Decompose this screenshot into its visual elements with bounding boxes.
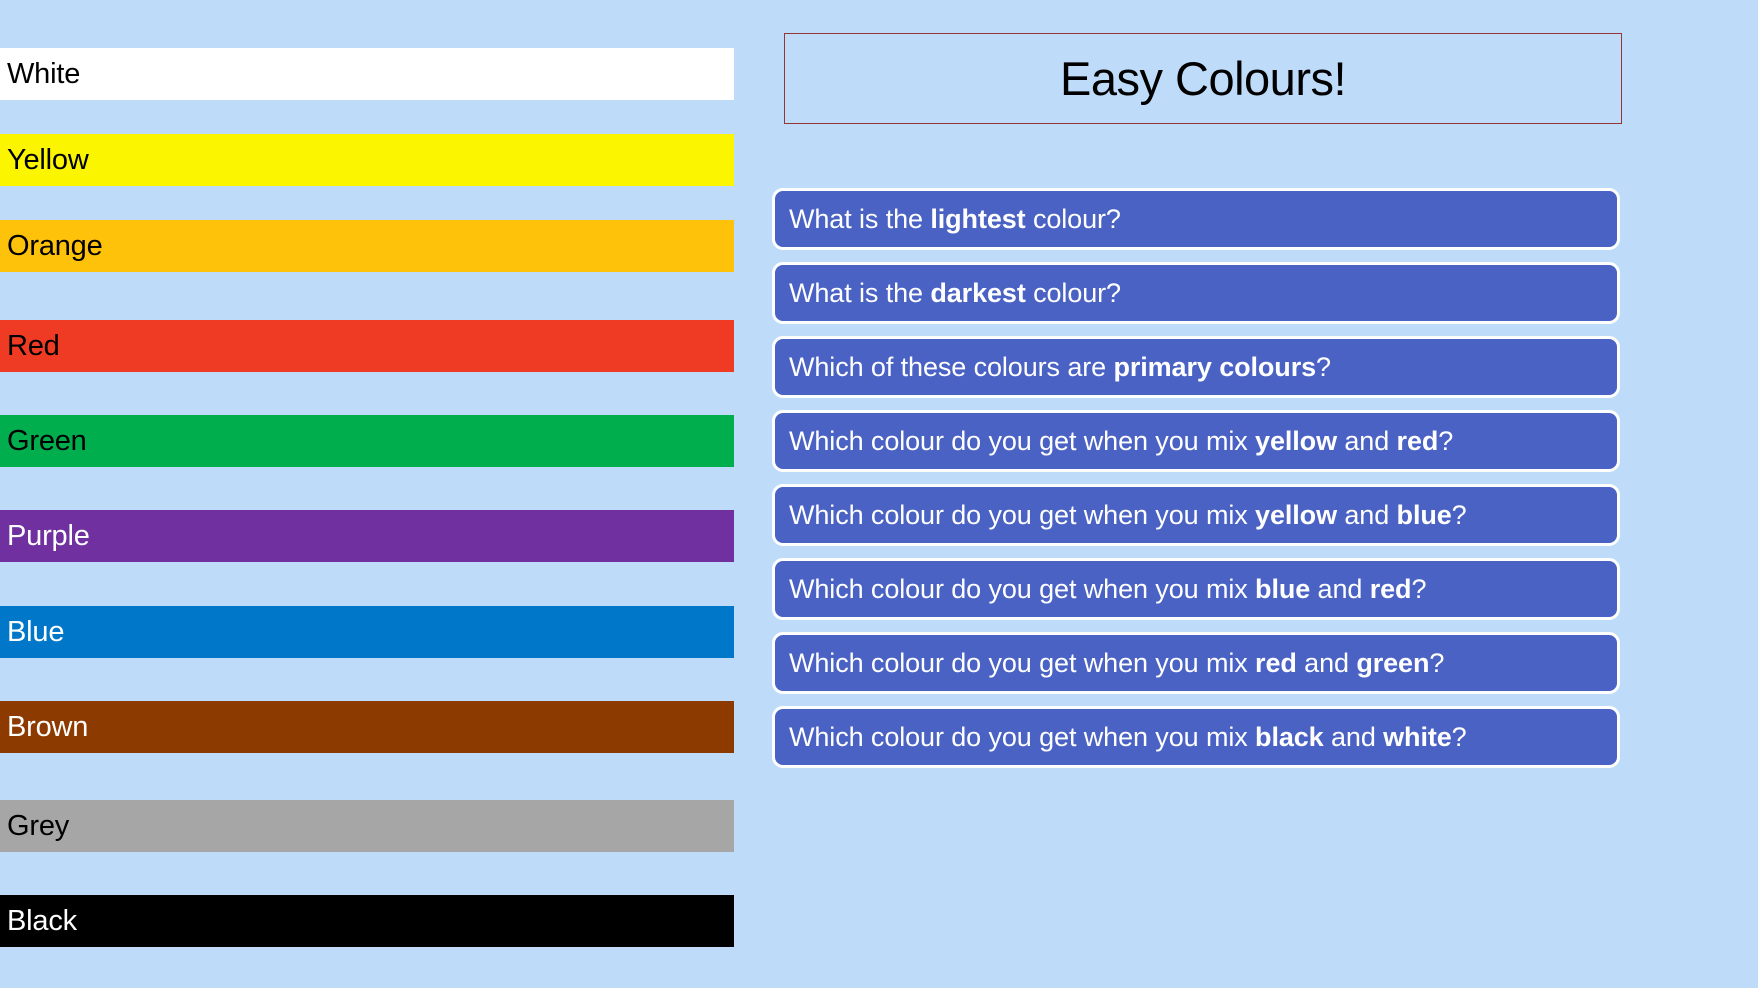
colour-bar-white: White	[0, 48, 734, 100]
colour-bar-blue: Blue	[0, 606, 734, 658]
question-text: What is the darkest colour?	[789, 280, 1121, 307]
colour-bar-label: Green	[7, 427, 87, 456]
question-text: Which colour do you get when you mix yel…	[789, 502, 1467, 529]
colour-bar-green: Green	[0, 415, 734, 467]
question-text: Which colour do you get when you mix yel…	[789, 428, 1453, 455]
title-box: Easy Colours!	[784, 33, 1622, 124]
colour-bar-label: White	[7, 60, 80, 89]
question-text: What is the lightest colour?	[789, 206, 1121, 233]
question-button-5[interactable]: Which colour do you get when you mix yel…	[772, 484, 1620, 546]
colour-bar-label: Grey	[7, 812, 69, 841]
colour-bar-brown: Brown	[0, 701, 734, 753]
colour-bar-label: Yellow	[7, 146, 89, 175]
colour-bar-purple: Purple	[0, 510, 734, 562]
question-button-8[interactable]: Which colour do you get when you mix bla…	[772, 706, 1620, 768]
colour-bar-label: Orange	[7, 232, 103, 261]
question-text: Which colour do you get when you mix red…	[789, 650, 1444, 677]
page-title: Easy Colours!	[1060, 55, 1346, 102]
colour-bar-red: Red	[0, 320, 734, 372]
colour-bar-label: Brown	[7, 713, 88, 742]
question-button-1[interactable]: What is the lightest colour?	[772, 188, 1620, 250]
question-button-2[interactable]: What is the darkest colour?	[772, 262, 1620, 324]
colour-bar-grey: Grey	[0, 800, 734, 852]
colour-bar-label: Black	[7, 907, 77, 936]
colour-swatch-list: WhiteYellowOrangeRedGreenPurpleBlueBrown…	[0, 0, 734, 988]
colour-bar-yellow: Yellow	[0, 134, 734, 186]
colour-bar-label: Purple	[7, 522, 90, 551]
question-text: Which colour do you get when you mix blu…	[789, 576, 1426, 603]
colour-bar-label: Red	[7, 332, 60, 361]
colour-bar-orange: Orange	[0, 220, 734, 272]
colour-bar-label: Blue	[7, 618, 64, 647]
question-text: Which of these colours are primary colou…	[789, 354, 1331, 381]
question-button-7[interactable]: Which colour do you get when you mix red…	[772, 632, 1620, 694]
question-button-3[interactable]: Which of these colours are primary colou…	[772, 336, 1620, 398]
question-text: Which colour do you get when you mix bla…	[789, 724, 1467, 751]
question-button-6[interactable]: Which colour do you get when you mix blu…	[772, 558, 1620, 620]
colour-bar-black: Black	[0, 895, 734, 947]
question-list: What is the lightest colour?What is the …	[772, 188, 1620, 780]
question-button-4[interactable]: Which colour do you get when you mix yel…	[772, 410, 1620, 472]
